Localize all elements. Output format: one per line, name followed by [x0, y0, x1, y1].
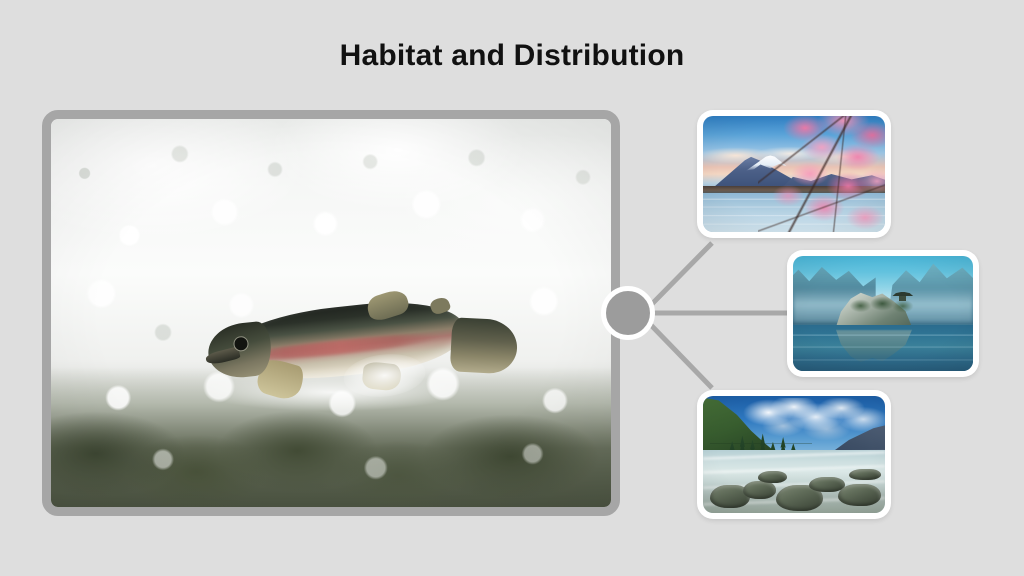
connector-line-to-card-1 — [650, 243, 712, 306]
card-photo-mountain-river — [703, 396, 885, 513]
slide-canvas: Habitat and Distribution — [0, 0, 1024, 576]
connector-hub[interactable] — [601, 286, 655, 340]
connector-line-to-card-3 — [648, 322, 712, 388]
page-title: Habitat and Distribution — [0, 36, 1024, 76]
card-photo-misty-lake-island — [793, 256, 973, 371]
river-rock — [849, 469, 882, 481]
habitat-card-mountain-lake-blossom[interactable] — [697, 110, 891, 238]
cherry-blossom-branches — [758, 116, 885, 232]
fish-tail-fin — [450, 317, 519, 375]
river-rock — [758, 471, 787, 483]
river-rock — [743, 481, 776, 499]
lake-pavilion — [892, 292, 914, 301]
lake-water-highlights — [793, 325, 973, 371]
main-image-frame[interactable] — [42, 110, 620, 516]
river-rock — [838, 484, 882, 506]
habitat-card-mountain-river[interactable] — [697, 390, 891, 519]
habitat-card-misty-lake-island[interactable] — [787, 250, 979, 377]
card-photo-mountain-lake-blossom — [703, 116, 885, 232]
main-photo-salmon-rapids — [51, 119, 611, 507]
